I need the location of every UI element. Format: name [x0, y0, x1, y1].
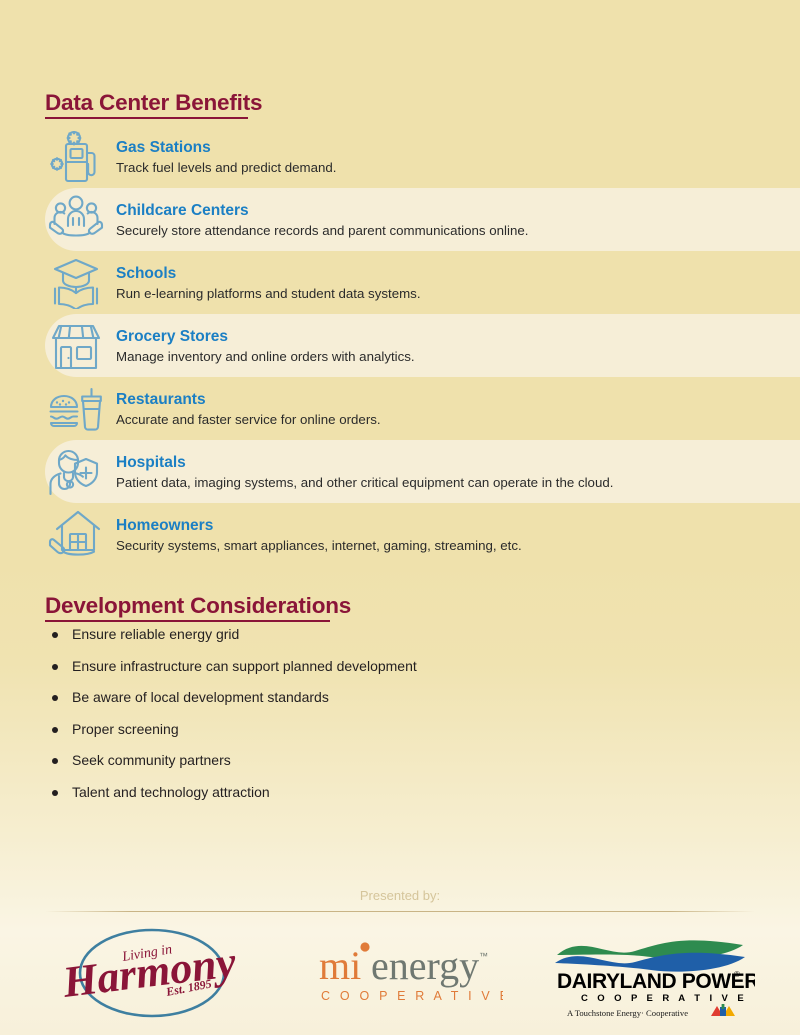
benefit-desc: Securely store attendance records and pa…	[116, 222, 528, 239]
benefit-title: Restaurants	[116, 390, 381, 409]
burger-drink-icon	[45, 381, 107, 437]
bullet-dot-icon	[52, 727, 58, 733]
list-item: Ensure infrastructure can support planne…	[52, 657, 702, 675]
benefit-text-schools: Schools Run e-learning platforms and stu…	[116, 264, 421, 302]
list-item-label: Ensure infrastructure can support planne…	[72, 657, 417, 675]
benefit-text-gas-stations: Gas Stations Track fuel levels and predi…	[116, 138, 337, 176]
benefit-title: Schools	[116, 264, 421, 283]
list-item-label: Seek community partners	[72, 751, 231, 769]
benefit-row-restaurants: Restaurants Accurate and faster service …	[0, 377, 800, 440]
benefits-heading-text: Data Center Benefits	[45, 90, 262, 115]
dairyland-cooperative: C O O P E R A T I V E	[581, 993, 747, 1004]
benefits-heading-underline	[45, 117, 248, 119]
benefit-text-hospitals: Hospitals Patient data, imaging systems,…	[116, 453, 613, 491]
benefit-row-grocery-stores: Grocery Stores Manage inventory and onli…	[45, 314, 800, 377]
bullet-dot-icon	[52, 758, 58, 764]
development-heading: Development Considerations	[45, 593, 351, 622]
mienergy-tm: ™	[479, 951, 488, 961]
benefit-text-childcare-centers: Childcare Centers Securely store attenda…	[116, 201, 528, 239]
list-item-label: Proper screening	[72, 720, 179, 738]
benefit-text-restaurants: Restaurants Accurate and faster service …	[116, 390, 381, 428]
storefront-icon	[45, 318, 107, 374]
dairyland-reg: ®	[734, 970, 740, 979]
touchstone-energy-icon	[711, 1004, 735, 1016]
list-item-label: Ensure reliable energy grid	[72, 625, 239, 643]
poster-content: Data Center Benefits	[0, 0, 800, 1035]
house-in-hand-icon	[45, 507, 107, 563]
benefit-text-grocery-stores: Grocery Stores Manage inventory and onli…	[116, 327, 415, 365]
living-in-harmony-logo: Living in Harmony Est. 1895	[45, 923, 260, 1023]
footer-divider	[45, 911, 755, 912]
mienergy-mi: mi	[319, 943, 361, 988]
doctor-shield-cross-icon	[45, 444, 107, 500]
benefit-row-childcare-centers: Childcare Centers Securely store attenda…	[45, 188, 800, 251]
mienergy-cooperative: C O O P E R A T I V E	[321, 989, 503, 1003]
benefit-row-homeowners: Homeowners Security systems, smart appli…	[0, 503, 800, 566]
bullet-dot-icon	[52, 664, 58, 670]
benefit-title: Grocery Stores	[116, 327, 415, 346]
list-item: Talent and technology attraction	[52, 783, 702, 801]
dairyland-tagline: A Touchstone Energy· Cooperative	[567, 1008, 688, 1018]
bullet-dot-icon	[52, 695, 58, 701]
childcare-family-hands-icon	[45, 192, 107, 248]
mienergy-energy: energy	[371, 943, 479, 988]
benefits-heading: Data Center Benefits	[45, 90, 262, 119]
gas-pump-icon	[45, 129, 107, 185]
list-item-label: Talent and technology attraction	[72, 783, 270, 801]
benefit-row-hospitals: Hospitals Patient data, imaging systems,…	[45, 440, 800, 503]
list-item: Be aware of local development standards	[52, 688, 702, 706]
mienergy-dot-icon	[360, 942, 369, 951]
footer-logos: Living in Harmony Est. 1895 mi energy ™ …	[45, 920, 755, 1025]
benefit-title: Homeowners	[116, 516, 522, 535]
list-item-label: Be aware of local development standards	[72, 688, 329, 706]
benefit-text-homeowners: Homeowners Security systems, smart appli…	[116, 516, 522, 554]
benefit-desc: Accurate and faster service for online o…	[116, 411, 381, 428]
presented-by-label: Presented by:	[0, 888, 800, 903]
benefit-desc: Track fuel levels and predict demand.	[116, 159, 337, 176]
development-heading-underline	[45, 620, 330, 622]
development-heading-text: Development Considerations	[45, 593, 351, 618]
dairyland-power-cooperative-logo: DAIRYLAND POWER ® C O O P E R A T I V E …	[545, 925, 755, 1020]
benefit-row-gas-stations: Gas Stations Track fuel levels and predi…	[0, 125, 800, 188]
benefit-title: Hospitals	[116, 453, 613, 472]
graduation-cap-book-icon	[45, 255, 107, 311]
dairyland-title: DAIRYLAND POWER	[557, 970, 755, 993]
benefit-title: Gas Stations	[116, 138, 337, 157]
benefit-desc: Run e-learning platforms and student dat…	[116, 285, 421, 302]
benefit-row-schools: Schools Run e-learning platforms and stu…	[0, 251, 800, 314]
benefit-desc: Manage inventory and online orders with …	[116, 348, 415, 365]
development-list: Ensure reliable energy grid Ensure infra…	[52, 625, 702, 814]
list-item: Seek community partners	[52, 751, 702, 769]
benefit-desc: Patient data, imaging systems, and other…	[116, 474, 613, 491]
list-item: Ensure reliable energy grid	[52, 625, 702, 643]
list-item: Proper screening	[52, 720, 702, 738]
benefits-list: Gas Stations Track fuel levels and predi…	[0, 125, 800, 566]
mienergy-cooperative-logo: mi energy ™ C O O P E R A T I V E	[303, 933, 503, 1013]
bullet-dot-icon	[52, 790, 58, 796]
benefit-desc: Security systems, smart appliances, inte…	[116, 537, 522, 554]
bullet-dot-icon	[52, 632, 58, 638]
poster-page: Data Center Benefits	[0, 0, 800, 1035]
benefit-title: Childcare Centers	[116, 201, 528, 220]
